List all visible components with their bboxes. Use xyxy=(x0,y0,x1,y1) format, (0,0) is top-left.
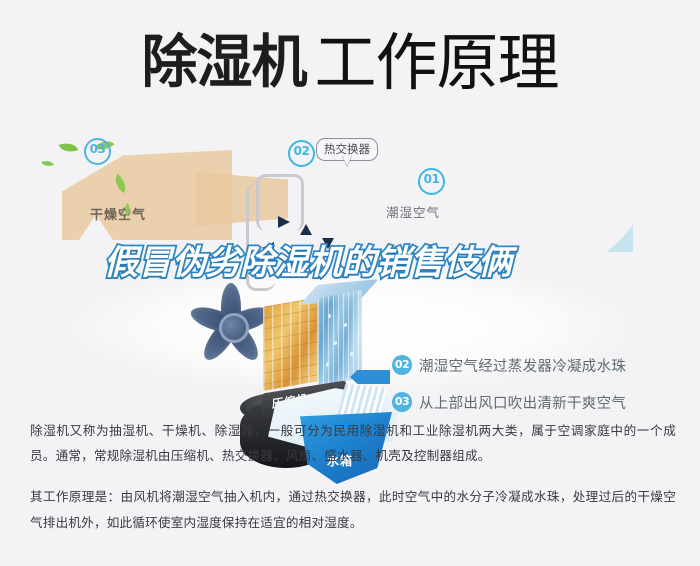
diagram-badge-02: 02 xyxy=(288,140,315,167)
overlay-headline: 假冒伪劣除湿机的销售伎俩 xyxy=(104,246,624,281)
heat-exchanger-callout: 热交换器 xyxy=(316,138,378,161)
legend-text: 潮湿空气经过蒸发器冷凝成水珠 xyxy=(419,355,626,376)
diagram-badge-03: 03 xyxy=(84,138,111,165)
evaporator xyxy=(318,290,362,387)
evaporator-fins xyxy=(318,290,362,387)
page-title-light: 工作原理 xyxy=(314,32,558,94)
legend-item: 02 潮湿空气经过蒸发器冷凝成水珠 xyxy=(392,355,692,375)
page-title-bold: 除湿机 xyxy=(141,34,306,91)
diagram-badge-01: 01 xyxy=(418,168,445,195)
legend-text: 从上部出风口吹出清新干爽空气 xyxy=(419,392,626,413)
article-body: 除湿机又称为抽湿机、干燥机、除湿器，一般可分为民用除湿机和工业除湿机两大类，属于… xyxy=(30,418,676,551)
leaf-icon xyxy=(59,140,79,156)
legend-item: 03 从上部出风口吹出清新干爽空气 xyxy=(392,392,692,412)
dry-air-label: 干燥空气 xyxy=(90,204,146,223)
legend-badge: 03 xyxy=(392,392,412,412)
body-paragraph-1: 除湿机又称为抽湿机、干燥机、除湿器，一般可分为民用除湿机和工业除湿机两大类，属于… xyxy=(30,418,676,468)
infographic-page: 除湿机 工作原理 干燥空气 03 02 01 潮湿空气 热交换器 xyxy=(0,0,700,566)
page-title: 除湿机 工作原理 xyxy=(0,24,700,102)
fan-hub xyxy=(219,313,249,343)
fan-graphic xyxy=(188,282,274,368)
humid-air-label: 潮湿空气 xyxy=(386,202,440,221)
callout-tail-icon xyxy=(342,155,352,166)
legend-badge: 02 xyxy=(392,355,412,375)
air-intake-arrow xyxy=(350,370,390,384)
airflow-arrow-right xyxy=(278,216,290,228)
airflow-arrow-up xyxy=(300,224,312,235)
leaf-icon xyxy=(41,158,54,168)
body-paragraph-2: 其工作原理是：由风机将潮湿空气抽入机内，通过热交换器，此时空气中的水分子冷凝成水… xyxy=(30,484,676,534)
